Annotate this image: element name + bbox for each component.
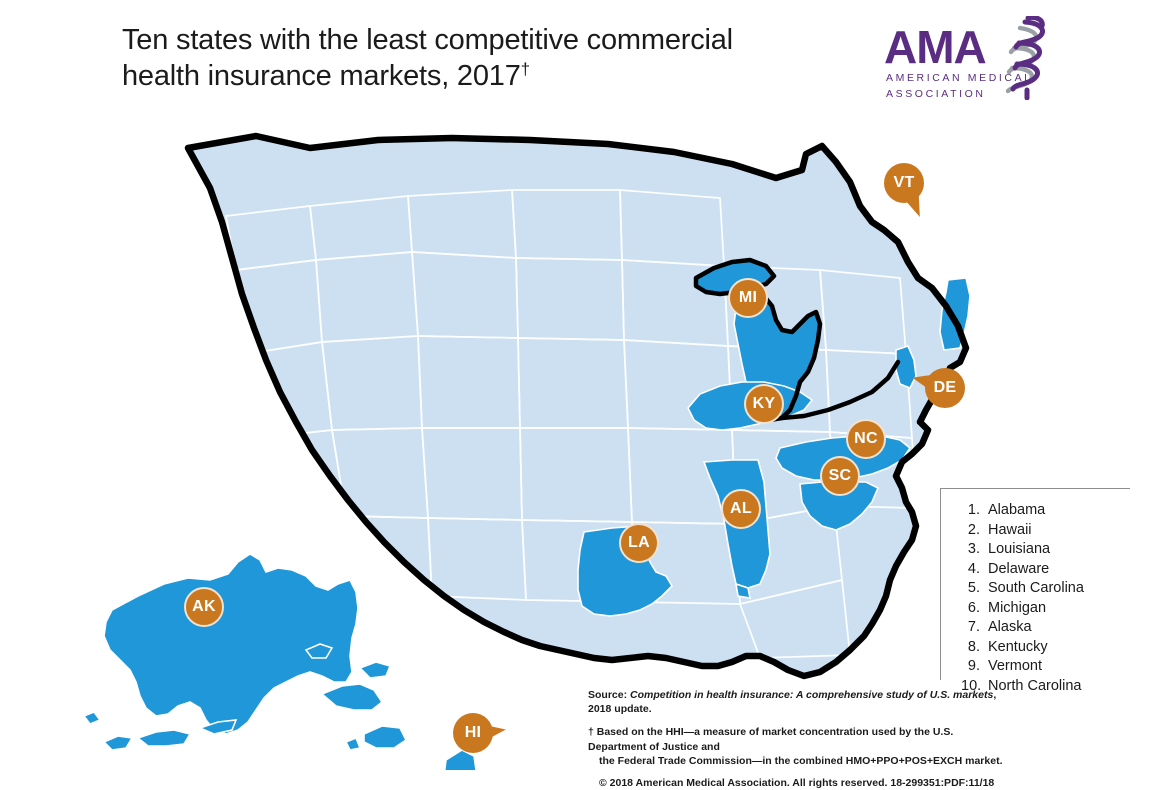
legend-number: 7.: [961, 618, 988, 637]
badge-louisiana[interactable]: LA: [619, 523, 659, 563]
legend-number: 3.: [961, 540, 988, 559]
infographic-root: Ten states with the least competitive co…: [0, 0, 1170, 780]
badge-alaska[interactable]: AK: [184, 587, 224, 627]
badge-south-carolina[interactable]: SC: [820, 456, 860, 496]
footnotes: Source: Competition in health insurance:…: [588, 688, 1008, 790]
legend-number: 6.: [961, 599, 988, 618]
page-title: Ten states with the least competitive co…: [122, 22, 842, 94]
title-dagger: †: [521, 59, 530, 78]
ama-logo: AMA AMERICAN MEDICAL ASSOCIATION: [884, 18, 1044, 104]
page-title-line1: Ten states with the least competitive co…: [122, 24, 733, 56]
badge-delaware[interactable]: DE: [925, 368, 965, 408]
list-item: 1. Alabama: [961, 501, 1130, 520]
list-item: 9. Vermont: [961, 657, 1130, 676]
badge-michigan[interactable]: MI: [728, 278, 768, 318]
ama-wordmark: AMA: [884, 20, 986, 74]
state-rank-legend: 1. Alabama 2. Hawaii 3. Louisiana 4. Del…: [940, 488, 1130, 680]
badge-kentucky[interactable]: KY: [744, 384, 784, 424]
dagger-note-line2: the Federal Trade Commission—in the comb…: [588, 754, 1008, 769]
list-item: 5. South Carolina: [961, 579, 1130, 598]
legend-number: 5.: [961, 579, 988, 598]
list-item: 3. Louisiana: [961, 540, 1130, 559]
badge-hawaii[interactable]: HI: [453, 713, 493, 753]
legend-number: 8.: [961, 638, 988, 657]
page-title-line2: health insurance markets, 2017: [122, 60, 521, 92]
badge-north-carolina[interactable]: NC: [846, 419, 886, 459]
legend-state-name: Louisiana: [988, 540, 1050, 559]
legend-number: 1.: [961, 501, 988, 520]
list-item: 8. Kentucky: [961, 638, 1130, 657]
copyright-note: © 2018 American Medical Association. All…: [588, 776, 1008, 790]
caduceus-icon: [994, 16, 1050, 100]
source-label: Source:: [588, 689, 630, 701]
dagger-note-line1: † Based on the HHI—a measure of market c…: [588, 726, 953, 753]
legend-state-name: South Carolina: [988, 579, 1084, 598]
legend-state-name: Alaska: [988, 618, 1032, 637]
source-note: Source: Competition in health insurance:…: [588, 688, 1008, 716]
legend-state-name: Kentucky: [988, 638, 1048, 657]
source-title: Competition in health insurance: A compr…: [630, 689, 993, 701]
legend-state-name: Vermont: [988, 657, 1042, 676]
state-alaska: [84, 554, 390, 750]
list-item: 2. Hawaii: [961, 521, 1130, 540]
badge-vermont[interactable]: VT: [884, 163, 924, 203]
dagger-note: † Based on the HHI—a measure of market c…: [588, 725, 1008, 769]
legend-number: 2.: [961, 521, 988, 540]
legend-state-name: Alabama: [988, 501, 1045, 520]
badge-alabama[interactable]: AL: [721, 489, 761, 529]
list-item: 7. Alaska: [961, 618, 1130, 637]
legend-number: 9.: [961, 657, 988, 676]
list-item: 6. Michigan: [961, 599, 1130, 618]
ama-subtitle-line2: ASSOCIATION: [886, 88, 986, 100]
legend-state-name: Michigan: [988, 599, 1046, 618]
legend-number: 4.: [961, 560, 988, 579]
legend-state-name: Delaware: [988, 560, 1049, 579]
list-item: 4. Delaware: [961, 560, 1130, 579]
legend-state-name: Hawaii: [988, 521, 1032, 540]
